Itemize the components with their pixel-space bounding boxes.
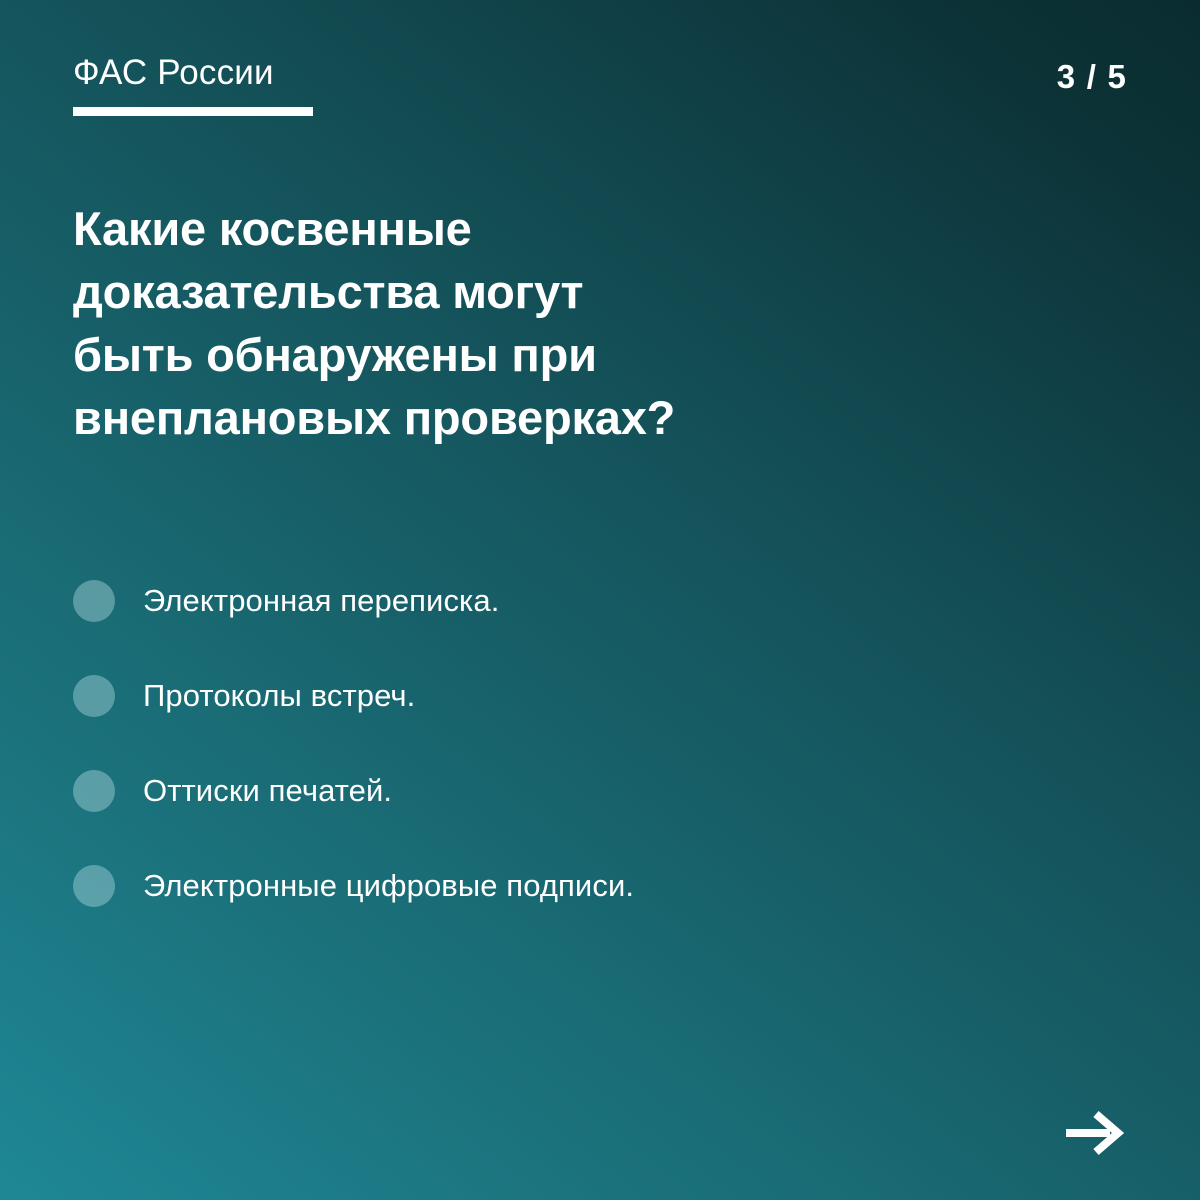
page-counter: 3 / 5 bbox=[1057, 58, 1127, 96]
heading-line-1: Какие косвенные bbox=[73, 198, 973, 261]
heading-line-3: быть обнаружены при bbox=[73, 324, 973, 387]
page-title: Какие косвенные доказательства могут быт… bbox=[73, 198, 973, 450]
list-item-label: Протоколы встреч. bbox=[143, 677, 415, 716]
bullet-dot-icon bbox=[73, 580, 115, 622]
list-item: Электронные цифровые подписи. bbox=[73, 855, 1113, 917]
slide-canvas: ФАС России 3 / 5 Какие косвенные доказат… bbox=[0, 0, 1200, 1200]
answer-options-list: Электронная переписка. Протоколы встреч.… bbox=[73, 570, 1113, 917]
brand-logo: ФАС России bbox=[73, 54, 313, 116]
brand-name: ФАС России bbox=[73, 54, 313, 93]
arrow-right-icon bbox=[1062, 1104, 1128, 1162]
list-item: Протоколы встреч. bbox=[73, 665, 1113, 727]
list-item-label: Оттиски печатей. bbox=[143, 772, 392, 811]
bullet-dot-icon bbox=[73, 865, 115, 907]
list-item: Оттиски печатей. bbox=[73, 760, 1113, 822]
heading-line-2: доказательства могут bbox=[73, 261, 973, 324]
list-item: Электронная переписка. bbox=[73, 570, 1113, 632]
slide-header: ФАС России 3 / 5 bbox=[0, 0, 1200, 160]
brand-underline-rule bbox=[73, 107, 313, 116]
list-item-label: Электронные цифровые подписи. bbox=[143, 867, 634, 906]
heading-line-4: внеплановых проверках? bbox=[73, 387, 973, 450]
bullet-dot-icon bbox=[73, 770, 115, 812]
list-item-label: Электронная переписка. bbox=[143, 582, 499, 621]
next-slide-button[interactable] bbox=[1062, 1104, 1128, 1162]
bullet-dot-icon bbox=[73, 675, 115, 717]
